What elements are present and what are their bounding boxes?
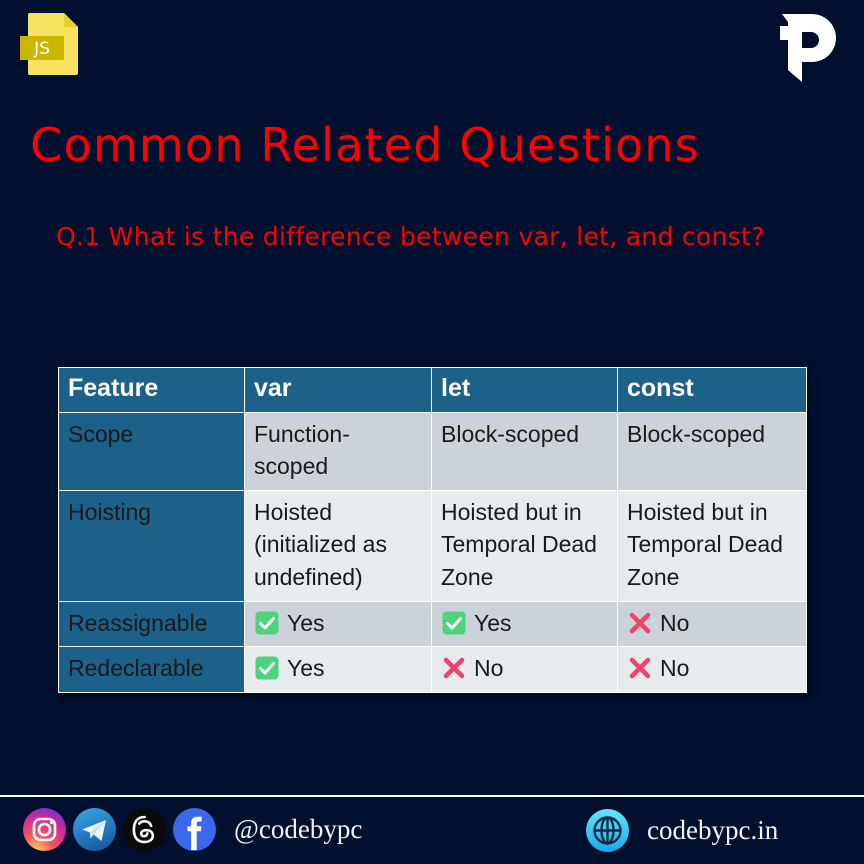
cross-icon xyxy=(627,610,653,636)
cell-text: Yes xyxy=(474,610,512,636)
cell-let: Block-scoped xyxy=(432,412,618,490)
cell-let: Yes xyxy=(432,601,618,647)
cross-icon xyxy=(441,655,467,681)
column-header-feature: Feature xyxy=(59,368,245,413)
cell-text: Yes xyxy=(287,655,325,681)
brand-p-logo xyxy=(770,10,842,86)
column-header-let: let xyxy=(432,368,618,413)
js-file-icon-label: JS xyxy=(33,39,50,59)
cell-let: No xyxy=(432,647,618,693)
cell-const: Block-scoped xyxy=(618,412,807,490)
question-text: Q.1 What is the difference between var, … xyxy=(56,222,765,251)
social-handle: @codebypc xyxy=(234,814,362,845)
social-links-group: @codebypc xyxy=(22,807,362,852)
cell-text: No xyxy=(660,610,689,636)
table-body: ScopeFunction-scopedBlock-scopedBlock-sc… xyxy=(59,412,807,693)
cell-var: Yes xyxy=(245,601,432,647)
top-bar: JS xyxy=(0,0,864,100)
table-row: ScopeFunction-scopedBlock-scopedBlock-sc… xyxy=(59,412,807,490)
cell-let: Hoisted but in Temporal Dead Zone xyxy=(432,490,618,601)
cell-const: No xyxy=(618,601,807,647)
instagram-icon[interactable] xyxy=(22,807,67,852)
footer: @codebypc codebypc.in xyxy=(0,797,864,864)
cell-const: No xyxy=(618,647,807,693)
js-file-icon: JS xyxy=(20,9,84,77)
cell-var: Function-scoped xyxy=(245,412,432,490)
page-title: Common Related Questions xyxy=(0,118,730,172)
threads-icon[interactable] xyxy=(122,807,167,852)
table-row: RedeclarableYesNoNo xyxy=(59,647,807,693)
row-feature-label: Scope xyxy=(59,412,245,490)
table-header-row: Feature var let const xyxy=(59,368,807,413)
table-row: HoistingHoisted (initialized as undefine… xyxy=(59,490,807,601)
facebook-icon[interactable] xyxy=(172,807,217,852)
column-header-var: var xyxy=(245,368,432,413)
comparison-table: Feature var let const ScopeFunction-scop… xyxy=(58,367,807,693)
website-label: codebypc.in xyxy=(647,815,778,846)
cell-text: Yes xyxy=(287,610,325,636)
globe-icon[interactable] xyxy=(585,808,630,853)
column-header-const: const xyxy=(618,368,807,413)
telegram-icon[interactable] xyxy=(72,807,117,852)
cell-text: No xyxy=(660,655,689,681)
cell-const: Hoisted but in Temporal Dead Zone xyxy=(618,490,807,601)
check-icon xyxy=(441,610,467,636)
table-row: ReassignableYesYesNo xyxy=(59,601,807,647)
cell-text: No xyxy=(474,655,503,681)
cell-var: Hoisted (initialized as undefined) xyxy=(245,490,432,601)
website-group: codebypc.in xyxy=(585,808,778,853)
check-icon xyxy=(254,655,280,681)
row-feature-label: Hoisting xyxy=(59,490,245,601)
cell-var: Yes xyxy=(245,647,432,693)
check-icon xyxy=(254,610,280,636)
cross-icon xyxy=(627,655,653,681)
row-feature-label: Reassignable xyxy=(59,601,245,647)
row-feature-label: Redeclarable xyxy=(59,647,245,693)
